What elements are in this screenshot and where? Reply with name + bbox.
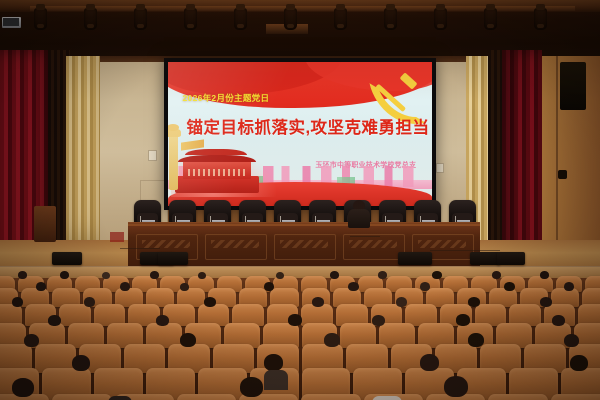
- audience-member-head: [372, 315, 385, 326]
- audience-member-head: [456, 314, 470, 326]
- spotlight-icon: [234, 8, 247, 30]
- spotlight-lens: [137, 24, 144, 28]
- audience-member-head: [198, 272, 206, 279]
- table-panel-trim: [280, 240, 328, 248]
- audience-member-head: [240, 377, 263, 397]
- audience-member-head: [564, 334, 579, 347]
- audience-member-torso: [264, 370, 288, 390]
- cable: [350, 236, 380, 237]
- audience-member-head: [492, 271, 501, 279]
- audience-member-head: [276, 272, 284, 279]
- spotlight-lens: [237, 24, 244, 28]
- audience-member-head: [12, 297, 23, 307]
- audience-seat-row: [0, 394, 600, 400]
- audience-member-head: [150, 271, 159, 279]
- spotlight-lens: [437, 24, 444, 28]
- audience-member-head: [48, 315, 61, 326]
- audience-member-head: [156, 315, 169, 326]
- wall-seam: [556, 56, 558, 256]
- huabiao-column: [169, 132, 179, 190]
- audience-member-head: [180, 333, 196, 347]
- spotlight-icon: [384, 8, 397, 30]
- spotlight-icon: [34, 8, 47, 30]
- stage-monitor-speaker: [497, 252, 525, 265]
- cable: [120, 248, 160, 249]
- huabiao-column-lion: [168, 124, 179, 131]
- audience-member-head: [468, 333, 484, 347]
- audience-member-head: [288, 314, 302, 326]
- audience-member-head: [72, 355, 90, 371]
- seated-presenter: [348, 200, 370, 228]
- spotlight-icon: [484, 8, 497, 30]
- curtain-red-right: [502, 50, 542, 262]
- audience-member-head: [468, 297, 480, 307]
- spotlight-lens: [287, 24, 294, 28]
- auditorium-photo: 2026年2月份主题党日 锚定目标抓落实,攻坚克难勇担当 玉环市中等职业技术学校…: [0, 0, 600, 400]
- audience-member-head: [420, 282, 430, 291]
- audience-member-head: [552, 315, 565, 326]
- tiananmen-roof-upper: [185, 149, 246, 155]
- audience-member-head: [264, 282, 274, 291]
- audience-member-head: [330, 271, 339, 279]
- spotlight-icon: [334, 8, 347, 30]
- cpc-emblem-icon: [371, 72, 421, 120]
- laptop-screen: [3, 18, 19, 26]
- audience-seat: [52, 394, 111, 400]
- tiananmen-roof-lower: [178, 155, 256, 162]
- wall-small-speaker-icon: [558, 170, 567, 179]
- audience-member-head: [204, 297, 216, 307]
- audience-member-head: [570, 355, 588, 371]
- audience-member-head: [180, 283, 189, 291]
- audience-member-head: [540, 297, 552, 307]
- screen-subtitle: 2026年2月份主题党日: [183, 92, 270, 104]
- stage-monitor-speaker: [398, 252, 432, 265]
- spotlight-lens: [87, 24, 94, 28]
- red-banner: [110, 232, 124, 242]
- audience-member-head: [102, 272, 110, 279]
- spotlight-lens: [537, 24, 544, 28]
- table-panel-trim: [211, 240, 259, 248]
- audience-member-head: [12, 378, 34, 397]
- audience-member-head: [312, 297, 324, 307]
- audience-member-head: [348, 282, 359, 291]
- audience-member-head: [378, 271, 387, 279]
- table-panel-trim: [418, 240, 466, 248]
- audience-member-head: [36, 282, 46, 291]
- wall-switch-right: [436, 163, 444, 173]
- tiananmen-windows: [188, 169, 247, 177]
- spotlight-icon: [184, 8, 197, 30]
- cable: [430, 250, 500, 251]
- led-screen-bezel: 2026年2月份主题党日 锚定目标抓落实,攻坚克难勇担当 玉环市中等职业技术学校…: [164, 58, 436, 210]
- spotlight-lens: [337, 24, 344, 28]
- spotlight-icon: [534, 8, 547, 30]
- wall-speaker-icon: [560, 62, 586, 110]
- wall-switch-left: [148, 150, 157, 161]
- audience-member-head: [264, 354, 283, 371]
- audience-member-head: [60, 271, 69, 279]
- spotlight-lens: [187, 24, 194, 28]
- audience-member-head: [444, 376, 468, 397]
- audience-member-head: [504, 282, 515, 291]
- audience-member-head: [120, 282, 130, 291]
- audience-member-torso: [372, 396, 402, 400]
- audience-member-head: [324, 333, 340, 347]
- stage-monitor-speaker: [158, 252, 188, 265]
- stage-monitor-speaker: [470, 252, 500, 265]
- spotlight-icon: [134, 8, 147, 30]
- audience-member-head: [18, 271, 27, 279]
- spotlight-lens: [487, 24, 494, 28]
- audience-member-head: [564, 282, 574, 291]
- spotlight-icon: [434, 8, 447, 30]
- spotlight-lens: [37, 24, 44, 28]
- podium: [34, 206, 56, 242]
- audience-seating: [0, 278, 600, 400]
- table-panel-trim: [142, 240, 190, 248]
- audience-seat: [177, 394, 236, 400]
- led-screen: 2026年2月份主题党日 锚定目标抓落实,攻坚克难勇担当 玉环市中等职业技术学校…: [168, 62, 432, 206]
- tiananmen-illustration: [171, 120, 277, 198]
- audience-member-head: [24, 334, 39, 347]
- audience-member-head: [432, 271, 442, 279]
- spotlight-icon: [84, 8, 97, 30]
- curtain-gold-left: [66, 56, 100, 256]
- spotlight-icon: [284, 8, 297, 30]
- audience-seat: [551, 394, 600, 400]
- audience-member-head: [420, 354, 439, 371]
- audience-seat: [301, 394, 360, 400]
- presenter-body: [348, 209, 370, 228]
- audience-member-head: [84, 297, 95, 307]
- audience-member-head: [396, 297, 407, 307]
- audience-member-torso: [108, 396, 132, 400]
- spotlight-lens: [387, 24, 394, 28]
- audience-seat: [488, 394, 547, 400]
- stage-monitor-speaker: [52, 252, 82, 265]
- audience-member-head: [540, 271, 549, 279]
- table-panel-trim: [349, 240, 397, 248]
